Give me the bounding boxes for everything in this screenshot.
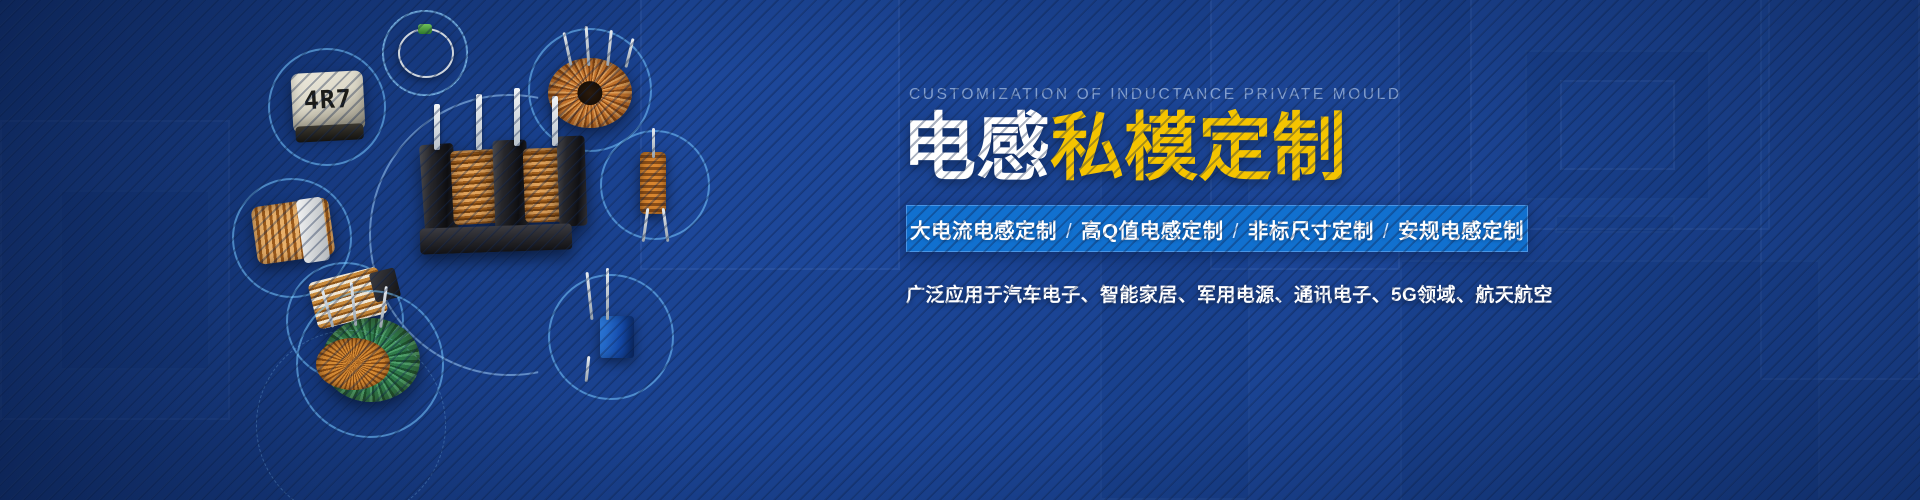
feature-separator: / — [1224, 220, 1248, 243]
feature-item-0[interactable]: 大电流电感定制 — [910, 220, 1057, 243]
feature-separator: / — [1057, 220, 1081, 243]
banner-text-block: CUSTOMIZATION OF INDUCTANCE PRIVATE MOUL… — [906, 86, 1606, 307]
product-blue-inductor — [600, 316, 634, 358]
banner-headline: 电感私模定制 — [902, 110, 1606, 185]
product-rod-coil — [640, 152, 666, 214]
headline-part-white: 电感 — [902, 106, 1050, 189]
feature-item-3[interactable]: 安规电感定制 — [1398, 220, 1524, 243]
product-lead — [652, 128, 655, 158]
headline-part-yellow: 私模定制 — [1050, 106, 1346, 189]
feature-separator: / — [1374, 220, 1398, 243]
product-choke-base — [420, 223, 573, 254]
feature-item-2[interactable]: 非标尺寸定制 — [1248, 220, 1374, 243]
feature-item-1[interactable]: 高Q值电感定制 — [1081, 220, 1223, 243]
product-lead — [606, 268, 609, 320]
banner-root: 4R7 — [0, 0, 1920, 500]
product-smd-inductor: 4R7 — [292, 72, 364, 132]
feature-bar[interactable]: 大电流电感定制/高Q值电感定制/非标尺寸定制/安规电感定制 — [906, 205, 1528, 252]
banner-eyebrow: CUSTOMIZATION OF INDUCTANCE PRIVATE MOUL… — [909, 86, 1606, 104]
product-wire-loop — [398, 28, 454, 78]
banner-description: 广泛应用于汽车电子、智能家居、军用电源、通讯电子、5G领域、航天航空 — [906, 280, 1606, 307]
smd-chip-label: 4R7 — [303, 83, 353, 114]
feature-bar-text: 大电流电感定制/高Q值电感定制/非标尺寸定制/安规电感定制 — [910, 214, 1524, 244]
product-wire-loop-bead — [418, 24, 432, 34]
